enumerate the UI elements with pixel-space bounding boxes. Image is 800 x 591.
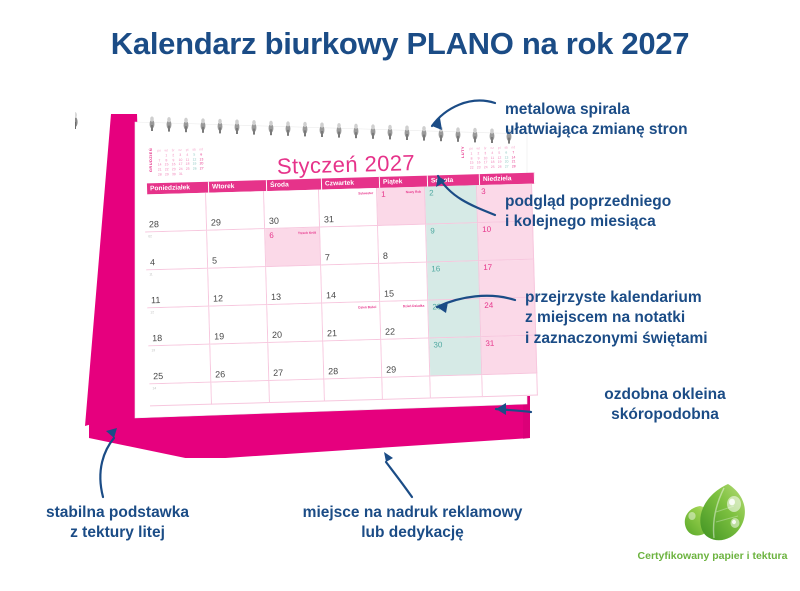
calendar-day-cell[interactable]: 26 [210, 343, 269, 383]
day-number: 16 [431, 264, 440, 273]
annotation-preview-line2: i kolejnego miesiąca [505, 212, 671, 232]
calendar-day-cell[interactable]: 1111 [146, 269, 209, 309]
day-number: 25 [153, 371, 163, 381]
mini-calendar-previous: pnwtśrczptsbnd12345678910111213141516171… [156, 147, 206, 177]
day-number: 22 [385, 327, 395, 337]
calendar-day-cell[interactable] [430, 375, 483, 398]
day-number: 3 [481, 187, 486, 196]
calendar-day-cell[interactable]: 6Trzech Króli [265, 228, 321, 268]
calendar-day-cell[interactable]: 14 [321, 264, 380, 304]
day-number: 5 [212, 255, 217, 265]
holiday-name: Dzień Dziadka [403, 304, 425, 309]
calendar-day-cell[interactable] [382, 377, 431, 400]
week-number: 14 [152, 386, 156, 390]
mini-calendar-next: pnwtśrczptsbnd12345678910111213141516171… [468, 145, 518, 170]
eco-certification-text: Certyfikowany papier i tektura [630, 550, 795, 562]
day-number: 15 [384, 289, 394, 299]
mini-calendar-next-label: LUTY [460, 146, 465, 158]
holiday-name: Nowy Rok [406, 190, 422, 194]
calendar-day-cell[interactable]: 29 [206, 191, 265, 231]
day-number: 19 [214, 331, 224, 341]
day-number: 1 [381, 190, 386, 199]
calendar-day-cell[interactable] [211, 381, 270, 405]
day-number: 7 [325, 252, 330, 262]
annotation-print-line2: lub dedykację [245, 523, 580, 543]
calendar-day-cell[interactable]: 30 [264, 190, 320, 230]
leaves-icon [630, 478, 795, 550]
calendar-day-cell[interactable]: 9 [426, 223, 479, 262]
day-number: 11 [151, 295, 161, 305]
annotation-print-line1: miejsce na nadruk reklamowy [245, 503, 580, 523]
calendar-day-cell[interactable]: 12 [208, 267, 267, 307]
annotation-spiral-line2: ułatwiająca zmianę stron [505, 120, 688, 140]
calendar-day-cell[interactable]: 1325 [148, 345, 211, 385]
calendar-face: Styczeń 2027 pnwtśrczptsbnd1234567891011… [138, 126, 526, 398]
day-number: 30 [269, 216, 279, 226]
annotation-base-line2: z tektury litej [10, 523, 225, 543]
calendar-day-cell[interactable] [482, 374, 538, 398]
annotation-grid-line2: z miejscem na notatki [525, 308, 708, 328]
annotation-print: miejsce na nadruk reklamowy lub dedykacj… [245, 503, 580, 544]
annotation-base-line1: stabilna podstawka [10, 503, 225, 523]
calendar-day-cell[interactable]: 2 [425, 185, 478, 224]
mini-day [198, 171, 205, 176]
calendar-day-cell[interactable]: 7 [320, 226, 379, 266]
calendar-day-cell[interactable]: 23 [428, 299, 481, 338]
annotation-grid-line3: i zaznaczonymi świętami [525, 329, 708, 349]
calendar-day-cell[interactable]: 024 [145, 231, 208, 271]
calendar-day-cell[interactable]: 28 [144, 193, 207, 233]
mini-calendar-previous-label: GRUDZIEŃ [148, 148, 153, 172]
calendar-day-cell[interactable]: 28 [323, 340, 382, 380]
day-number: 4 [150, 257, 155, 267]
dew-drop-leaf2 [688, 512, 695, 520]
calendar-day-cell[interactable]: 1Nowy Rok [377, 187, 426, 226]
annotation-grid: przejrzyste kalendarium z miejscem na no… [525, 288, 708, 349]
day-number: 6 [269, 231, 274, 240]
holiday-name: Trzech Króli [298, 231, 316, 236]
day-number: 26 [215, 369, 225, 379]
poster-canvas: Kalendarz biurkowy PLANO na rok 2027 [0, 0, 800, 591]
day-number: 29 [211, 217, 221, 227]
day-number: 8 [383, 251, 388, 261]
week-number: 11 [149, 272, 152, 276]
day-number: 2 [429, 188, 434, 197]
day-number: 31 [485, 339, 494, 348]
arrow-print [386, 462, 412, 497]
desk-calendar-illustration: Styczeń 2027 pnwtśrczptsbnd1234567891011… [75, 108, 525, 448]
day-number: 29 [386, 364, 396, 374]
mini-day: 28 [510, 165, 517, 170]
annotation-veneer-line2: skóropodobna [540, 405, 790, 425]
calendar-day-cell[interactable]: 19 [209, 305, 268, 345]
calendar-day-cell[interactable]: 13 [266, 266, 322, 306]
calendar-day-cell[interactable]: 30 [429, 337, 482, 376]
calendar-day-cell[interactable]: 1218 [147, 307, 210, 347]
day-number: 31 [324, 214, 334, 224]
week-number: 12 [150, 310, 154, 314]
day-number: 12 [213, 293, 223, 303]
eco-certification-logo: Certyfikowany papier i tektura [630, 478, 795, 578]
day-number: 30 [433, 340, 442, 349]
holiday-name: Dzień Babci [358, 305, 376, 310]
annotation-preview-line1: podgląd poprzedniego [505, 192, 671, 212]
calendar-day-cell[interactable]: 15 [379, 263, 428, 302]
calendar-day-cell[interactable]: 16 [427, 261, 480, 300]
week-number: 13 [151, 348, 155, 352]
calendar-day-cell[interactable]: 27 [268, 342, 324, 382]
calendar-day-cell[interactable]: 20 [267, 304, 323, 344]
day-number: 14 [326, 290, 336, 300]
annotation-base: stabilna podstawka z tektury litej [10, 503, 225, 544]
annotation-preview: podgląd poprzedniego i kolejnego miesiąc… [505, 192, 671, 233]
annotation-spiral-line1: metalowa spirala [505, 100, 688, 120]
holiday-name: Sylwester [358, 191, 373, 195]
day-number: 28 [149, 219, 159, 229]
annotation-veneer-line1: ozdobna okleina [540, 385, 790, 405]
calendar-day-cell[interactable]: 29 [381, 339, 430, 378]
calendar-day-cell[interactable]: 8 [378, 225, 427, 264]
day-number: 28 [328, 366, 338, 376]
day-number: 24 [484, 301, 493, 310]
day-number: 23 [432, 302, 441, 311]
day-number: 27 [273, 368, 283, 378]
day-number: 13 [271, 292, 281, 302]
calendar-day-cell[interactable]: 14 [149, 383, 212, 407]
annotation-grid-line1: przejrzyste kalendarium [525, 288, 708, 308]
page-title: Kalendarz biurkowy PLANO na rok 2027 [0, 26, 800, 62]
calendar-day-cell[interactable]: 22Dzień Dziadka [380, 301, 429, 340]
annotation-veneer: ozdobna okleina skóropodobna [540, 385, 790, 426]
day-number: 17 [483, 263, 492, 272]
day-number: 20 [272, 330, 282, 340]
calendar-day-cell[interactable] [269, 379, 325, 403]
week-number: 02 [148, 234, 152, 238]
calendar-day-cell[interactable]: 31Sylwester [319, 188, 378, 228]
day-number: 18 [152, 333, 162, 343]
calendar-day-cell[interactable]: 21Dzień Babci [322, 302, 381, 342]
calendar-day-cell[interactable]: 5 [207, 229, 266, 269]
day-number: 9 [430, 226, 435, 235]
calendar-day-cell[interactable] [324, 378, 383, 402]
day-number: 21 [327, 328, 337, 338]
calendar-grid: 28293031Sylwester1Nowy Rok2302456Trzech … [144, 184, 538, 407]
annotation-spiral: metalowa spirala ułatwiająca zmianę stro… [505, 100, 688, 141]
day-number: 10 [482, 225, 491, 234]
